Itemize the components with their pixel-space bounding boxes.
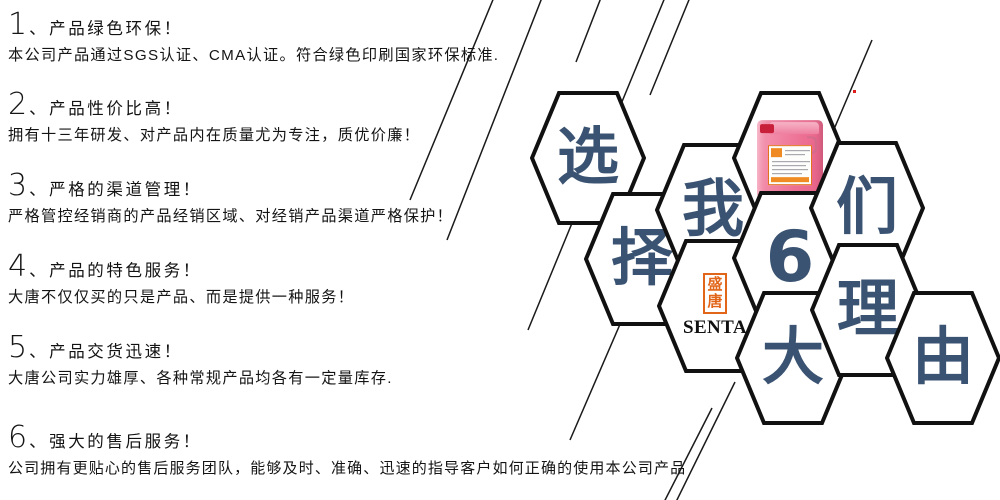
jerry-can-cap	[760, 124, 774, 133]
hexagon-label-you: 由	[885, 291, 1000, 425]
label-line	[785, 154, 805, 155]
hexagon-cluster: 选择我盛唐SENTA6们大理由	[0, 0, 1000, 500]
senta-logo-mark: 盛唐	[703, 273, 727, 314]
jerry-can-label	[768, 145, 812, 185]
jerry-can-top	[769, 122, 819, 134]
label-line	[772, 161, 810, 162]
label-line	[772, 173, 802, 174]
label-line	[785, 150, 810, 151]
label-line	[772, 169, 808, 170]
logo-char-top: 盛	[705, 276, 725, 293]
hexagon-cell-you: 由	[885, 291, 1000, 425]
logo-char-bottom: 唐	[705, 293, 725, 310]
promo-banner: 1 、 产品绿色环保！ 本公司产品通过SGS认证、CMA认证。符合绿色印刷国家环…	[0, 0, 1000, 500]
label-logo-block	[771, 148, 782, 157]
label-line	[772, 165, 806, 166]
label-bottom-bar	[771, 177, 809, 182]
